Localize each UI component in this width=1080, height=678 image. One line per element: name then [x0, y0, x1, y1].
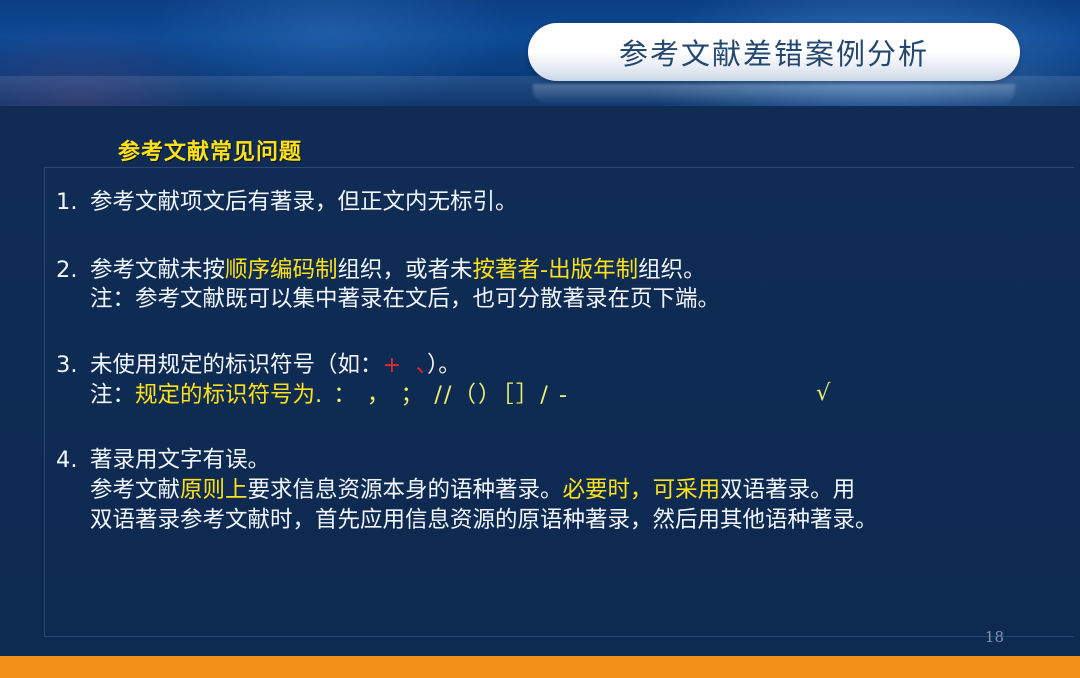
text-segment: 参考文献 [90, 477, 180, 503]
list-item-marker: 2. [56, 256, 90, 286]
section-heading: 参考文献常见问题 [118, 134, 302, 166]
list-item-text: 参考文献项文后有著录，但正文内无标引。 [90, 188, 518, 218]
text-segment: 要求信息资源本身的语种著录。 [248, 477, 563, 503]
title-pill-reflection [533, 84, 1015, 104]
list-item-marker: 3. [56, 351, 90, 381]
spacer [56, 424, 1056, 446]
list-item-text: 参考文献未按顺序编码制组织，或者未按著者-出版年制组织。 [90, 256, 706, 286]
highlight-segment: 顺序编码制 [225, 257, 338, 283]
page-title: 参考文献差错案例分析 [619, 31, 929, 73]
text-segment: ）。 [427, 352, 461, 378]
error-symbol-pause: 、 [416, 352, 427, 378]
slide-title-pill: 参考文献差错案例分析 [528, 23, 1020, 81]
spacer [56, 232, 1056, 256]
list-item-marker: 4. [56, 446, 90, 476]
list-item-main: 3. 未使用规定的标识符号（如：+ 、）。 [56, 351, 1056, 381]
list-item-text: 未使用规定的标识符号（如：+ 、）。 [90, 351, 461, 381]
note-label: 注： [90, 286, 135, 312]
error-symbol-plus: + [383, 352, 402, 378]
problem-list: 1. 参考文献项文后有著录，但正文内无标引。 2. 参考文献未按顺序编码制组织，… [56, 188, 1056, 550]
check-mark-icon: √ [816, 379, 830, 409]
list-item-main: 1. 参考文献项文后有著录，但正文内无标引。 [56, 188, 1056, 218]
text-segment: 组织。 [638, 257, 706, 283]
list-item-text: 著录用文字有误。 [90, 446, 270, 476]
text-segment: 双语著录。用 [720, 477, 855, 503]
list-item-body-line1: 参考文献原则上要求信息资源本身的语种著录。必要时，可采用双语著录。用 [90, 476, 1056, 506]
note-label: 注： [90, 382, 135, 408]
highlight-segment: 可采用 [653, 477, 721, 503]
text-segment: 未使用规定的标识符号（如： [90, 352, 383, 378]
list-item: 2. 参考文献未按顺序编码制组织，或者未按著者-出版年制组织。 注：参考文献既可… [56, 256, 1056, 315]
list-item-body-line2: 双语著录参考文献时，首先应用信息资源的原语种著录，然后用其他语种著录。 [90, 506, 1056, 536]
text-segment [401, 352, 415, 378]
slide: 参考文献差错案例分析 参考文献常见问题 1. 参考文献项文后有著录，但正文内无标… [0, 0, 1080, 678]
text-segment: 参考文献未按 [90, 257, 225, 283]
spacer [56, 329, 1056, 351]
highlight-segment: 必要时， [563, 477, 653, 503]
note-text: 参考文献既可以集中著录在文后，也可分散著录在页下端。 [135, 286, 720, 312]
list-item: 4. 著录用文字有误。 参考文献原则上要求信息资源本身的语种著录。必要时，可采用… [56, 446, 1056, 535]
highlight-segment: 原则上 [180, 477, 248, 503]
page-number: 18 [985, 628, 1004, 646]
highlight-segment: 按著者-出版年制 [473, 257, 639, 283]
list-item-note: 注：规定的标识符号为. ： ， ； //（）［］/ -√ [90, 381, 1056, 411]
allowed-symbols: . ： ， ； //（）［］/ - [315, 382, 569, 408]
slide-body: 参考文献常见问题 1. 参考文献项文后有著录，但正文内无标引。 2. 参考文献未… [0, 106, 1080, 656]
text-segment: 组织，或者未 [338, 257, 473, 283]
list-item-marker: 1. [56, 188, 90, 218]
footer-bar [0, 656, 1080, 678]
list-item: 3. 未使用规定的标识符号（如：+ 、）。 注：规定的标识符号为. ： ， ； … [56, 351, 1056, 410]
list-item-main: 2. 参考文献未按顺序编码制组织，或者未按著者-出版年制组织。 [56, 256, 1056, 286]
list-item: 1. 参考文献项文后有著录，但正文内无标引。 [56, 188, 1056, 218]
note-highlight: 规定的标识符号为 [135, 382, 315, 408]
list-item-main: 4. 著录用文字有误。 [56, 446, 1056, 476]
list-item-note: 注：参考文献既可以集中著录在文后，也可分散著录在页下端。 [90, 285, 1056, 315]
